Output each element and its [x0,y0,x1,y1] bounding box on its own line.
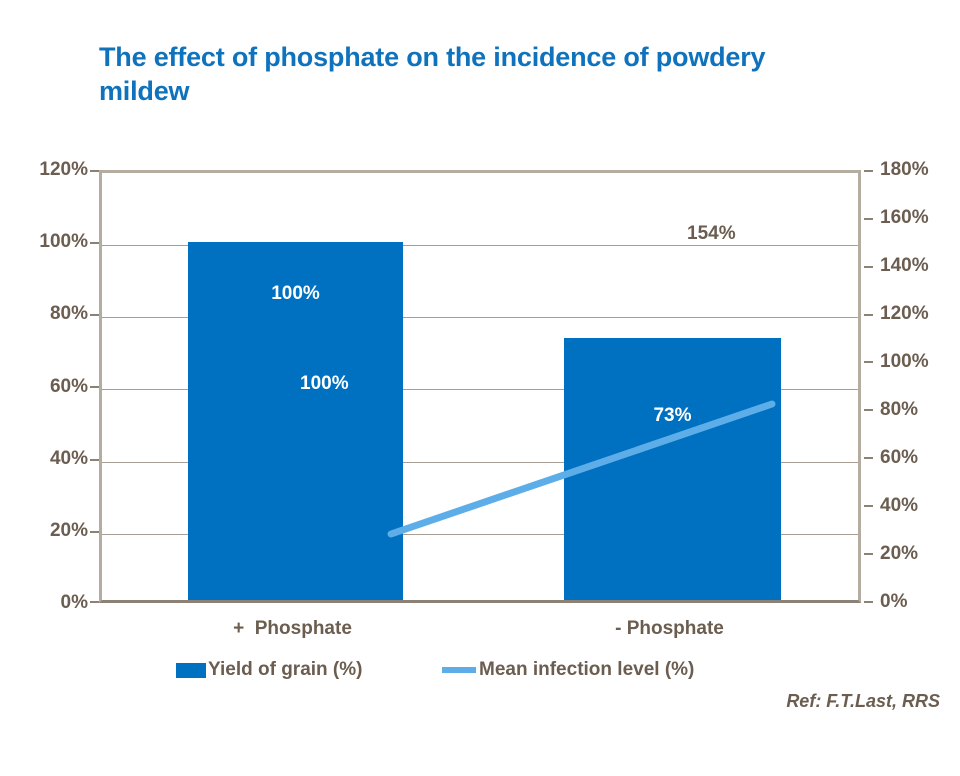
legend-square-swatch-icon [176,663,206,678]
y-right-tick-100: 100% [880,351,929,373]
category-label-plus-phosphate: + Phosphate [185,618,400,640]
y-axis-right: 180% 160% 140% 120% 100% 80% 60% 40% 20%… [880,170,960,603]
y-right-tick-40: 40% [880,495,918,517]
legend-line-swatch-icon [442,667,476,673]
y-left-tick-20: 20% [50,520,88,542]
tick-mark-left-40 [90,459,99,461]
y-left-tick-0: 0% [61,592,88,614]
bar-label-minus-phosphate: 73% [564,405,781,427]
tick-mark-left-0 [90,601,99,603]
bar-label-plus-phosphate: 100% [188,283,403,305]
reference-credit: Ref: F.T.Last, RRS [786,691,940,712]
chart-title: The effect of phosphate on the incidence… [99,40,819,108]
tick-mark-left-120 [90,170,99,172]
legend-item-mean-infection[interactable]: Mean infection level (%) [442,655,694,685]
y-right-tick-160: 160% [880,207,929,229]
legend-item-yield[interactable]: Yield of grain (%) [176,655,362,685]
y-left-tick-120: 120% [39,159,88,181]
tick-mark-right-140 [864,266,873,268]
y-right-tick-20: 20% [880,543,918,565]
y-right-tick-0: 0% [880,591,907,613]
tick-mark-right-120 [864,314,873,316]
tick-mark-left-20 [90,531,99,533]
tick-mark-left-100 [90,242,99,244]
y-left-tick-60: 60% [50,376,88,398]
line-label-minus-phosphate: 154% [687,223,736,245]
legend: Yield of grain (%) Mean infection level … [0,655,960,685]
y-left-tick-100: 100% [39,231,88,253]
y-left-tick-80: 80% [50,303,88,325]
y-right-tick-80: 80% [880,399,918,421]
legend-label-mean-infection: Mean infection level (%) [479,659,694,681]
category-label-minus-phosphate: - Phosphate [561,618,778,640]
tick-mark-right-180 [864,170,873,172]
y-right-tick-140: 140% [880,255,929,277]
tick-mark-right-160 [864,218,873,220]
legend-label-yield: Yield of grain (%) [208,659,362,681]
y-left-tick-40: 40% [50,448,88,470]
y-right-tick-60: 60% [880,447,918,469]
chart-container: The effect of phosphate on the incidence… [0,0,960,720]
y-right-tick-120: 120% [880,303,929,325]
tick-mark-left-60 [90,386,99,388]
line-label-plus-phosphate: 100% [300,373,349,395]
y-right-tick-180: 180% [880,159,929,181]
tick-mark-left-80 [90,314,99,316]
y-axis-left: 120% 100% 80% 60% 40% 20% 0% [0,170,88,603]
plot-area: 100% 73% 100% 154% [99,170,861,603]
